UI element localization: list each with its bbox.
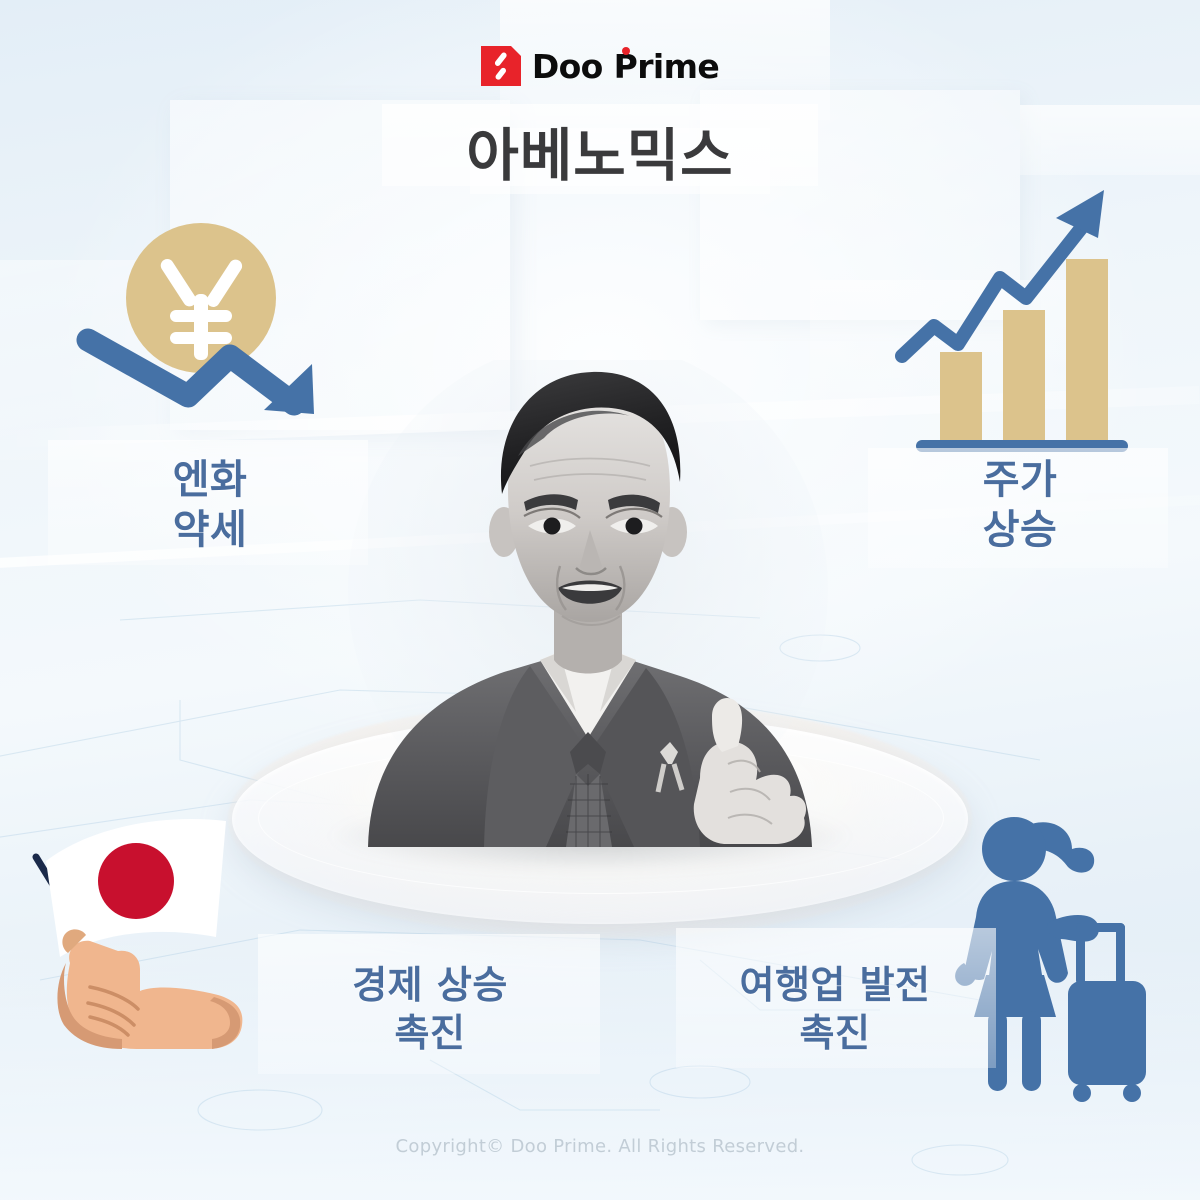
callout-stock-line1: 주가 <box>880 455 1160 505</box>
doo-prime-logo-icon <box>481 46 521 86</box>
chart-baseline <box>916 440 1128 452</box>
trend-line <box>902 222 1086 356</box>
callout-economy-line1: 경제 상승 <box>260 962 600 1010</box>
rising-bar-chart-icon <box>890 180 1140 460</box>
callout-label-yen-weakness: 엔화 약세 <box>60 455 360 555</box>
brand-name-wordmark: Doo Prime <box>532 50 719 83</box>
logo-accent-dot <box>622 47 630 55</box>
bar-1 <box>940 352 982 442</box>
callout-yen-line2: 약세 <box>60 505 360 555</box>
brand-logo: Doo Prime <box>0 42 1200 90</box>
callout-label-stock-rise: 주가 상승 <box>880 455 1160 555</box>
callout-tourism-line2: 촉진 <box>675 1010 995 1058</box>
callout-yen-line1: 엔화 <box>60 455 360 505</box>
japan-flag-hand-icon <box>18 805 258 1105</box>
callout-label-economy-boost: 경제 상승 촉진 <box>260 962 600 1057</box>
infographic-canvas: Doo Prime 아베노믹스 <box>0 0 1200 1200</box>
copyright-notice: Copyright© Doo Prime. All Rights Reserve… <box>0 1136 1200 1157</box>
female-traveler-suitcase-icon <box>930 805 1165 1105</box>
callout-label-tourism-boost: 여행업 발전 촉진 <box>675 962 995 1057</box>
callout-stock-line2: 상승 <box>880 505 1160 555</box>
callout-economy-line2: 촉진 <box>260 1010 600 1058</box>
bar-3 <box>1066 259 1108 442</box>
bar-2 <box>1003 310 1045 442</box>
yen-coin-down-arrow-icon <box>68 198 338 438</box>
shinzo-abe-portrait <box>308 360 868 847</box>
callout-tourism-line1: 여행업 발전 <box>675 962 995 1010</box>
